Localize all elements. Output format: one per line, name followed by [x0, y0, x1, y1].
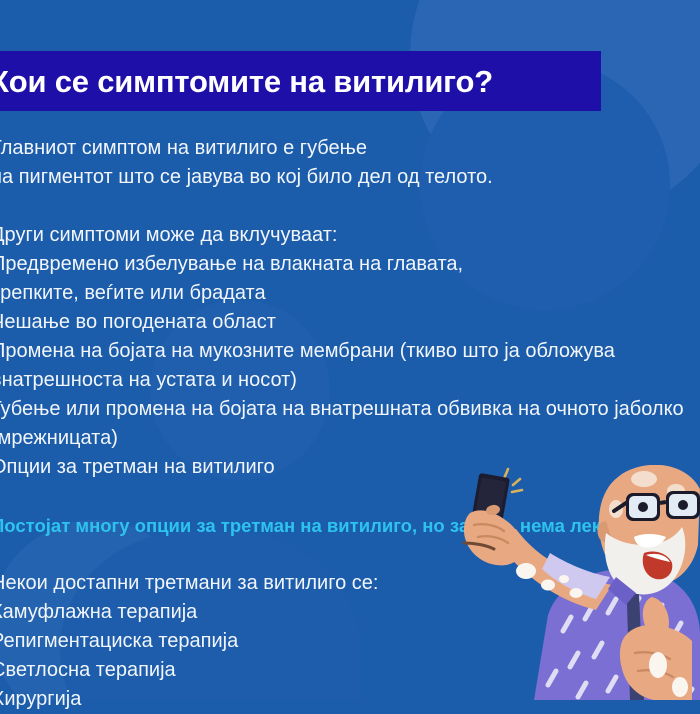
spacer [0, 192, 700, 221]
selfie-man-illustration [430, 465, 700, 700]
other-symptoms-heading: Други симптоми може да вклучуваат: [0, 221, 700, 250]
symptom-line: внатрешноста на устата и носот) [0, 366, 700, 395]
selfie-hand [464, 504, 522, 566]
intro-line: на пигментот што се јавува во кој било д… [0, 163, 700, 192]
symptom-line: Чешање во погодената област [0, 308, 700, 337]
intro-line: Главниот симптом на витилиго е губење [0, 134, 700, 163]
symptom-line: (мрежницата) [0, 424, 700, 453]
symptom-line: Предвремено избелување на влакната на гл… [0, 250, 700, 279]
symptom-line: Губење или промена на бојата на внатрешн… [0, 395, 700, 424]
page-title: Кои се симптомите на витилиго? [0, 66, 493, 97]
symptom-line: Промена на бојата на мукозните мембрани … [0, 337, 700, 366]
symptom-line: трепките, веѓите или брадата [0, 279, 700, 308]
title-banner: Кои се симптомите на витилиго? [0, 51, 601, 111]
